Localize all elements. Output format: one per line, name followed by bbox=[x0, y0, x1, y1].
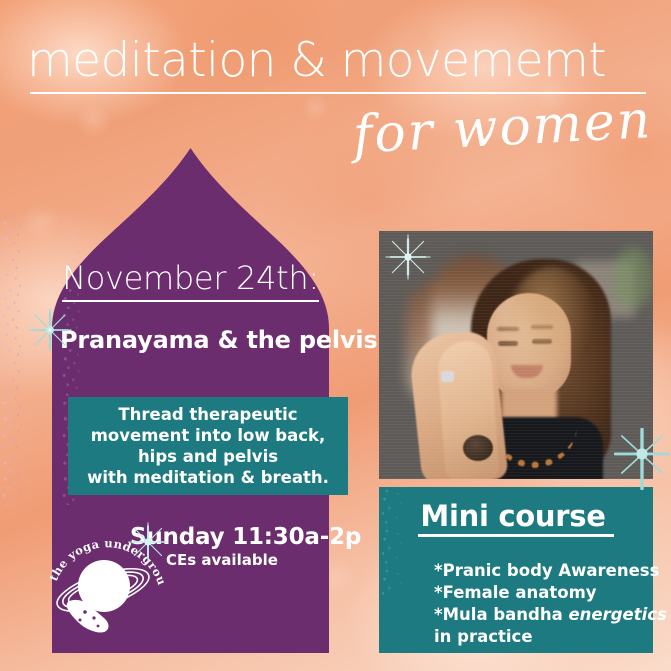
mini-course-title: Mini course bbox=[418, 499, 613, 537]
ce-credits-note: CEs available bbox=[166, 551, 278, 569]
event-date: November 24th: bbox=[62, 259, 319, 302]
description-line-4: with meditation & breath. bbox=[87, 467, 329, 488]
brand-logo: the yoga underground bbox=[40, 528, 170, 638]
list-item-text: Pranic body Awareness bbox=[443, 561, 660, 580]
list-item-marker: * bbox=[434, 583, 443, 602]
description-line-3: hips and pelvis bbox=[138, 446, 278, 467]
list-item-marker: * bbox=[434, 561, 443, 580]
mini-course-list: *Pranic body Awareness *Female anatomy *… bbox=[394, 560, 671, 648]
list-item-emphasis: energetics bbox=[568, 605, 666, 624]
mini-course-card: Mini course *Pranic body Awareness *Fema… bbox=[379, 487, 653, 653]
list-item-text: Female anatomy bbox=[443, 583, 597, 602]
page-title: meditation & movememt bbox=[27, 37, 647, 84]
mini-course-title-wrap: Mini course bbox=[379, 499, 653, 537]
event-subject-row: Pranayama & the pelvis bbox=[28, 320, 368, 368]
poster-root: meditation & movememt for women November… bbox=[0, 0, 671, 671]
photo-grain bbox=[379, 231, 653, 479]
list-item: *Pranic body Awareness bbox=[434, 560, 671, 582]
description-line-2: movement into low back, bbox=[91, 425, 326, 446]
description-card: Thread therapeutic movement into low bac… bbox=[68, 397, 348, 495]
event-subject: Pranayama & the pelvis bbox=[60, 326, 377, 354]
description-line-1: Thread therapeutic bbox=[118, 404, 297, 425]
title-underline bbox=[30, 92, 646, 94]
list-item: in practice bbox=[434, 626, 671, 648]
list-item-text: Mula bandha bbox=[443, 605, 569, 624]
list-item-marker: * bbox=[434, 605, 443, 624]
list-item: *Female anatomy bbox=[434, 582, 671, 604]
list-item: *Mula bandha energetics bbox=[434, 604, 671, 626]
event-date-line: November 24th: bbox=[18, 259, 363, 302]
hero-photo bbox=[379, 231, 653, 479]
list-item-text: in practice bbox=[434, 627, 533, 646]
